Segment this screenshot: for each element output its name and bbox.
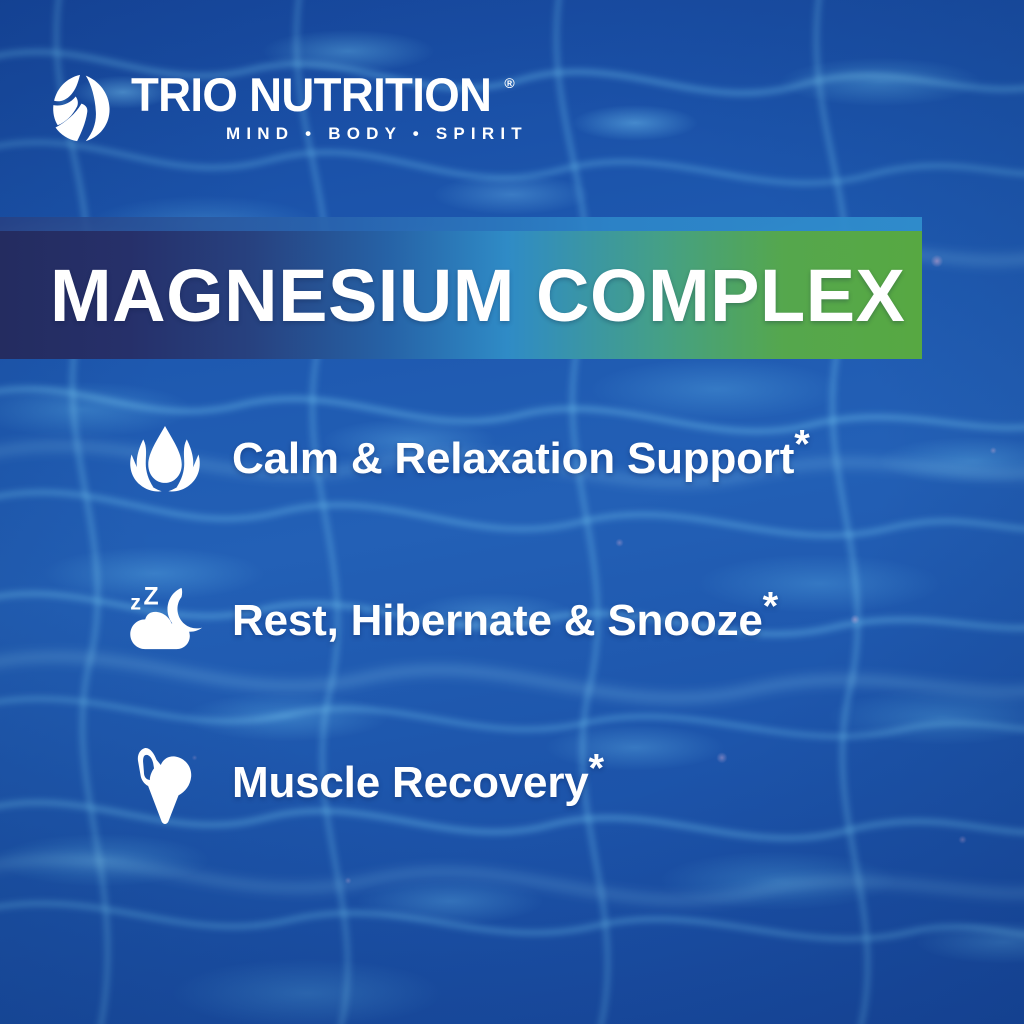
benefit-item: z Z Rest, Hibernate & Snooze*: [0, 580, 1024, 662]
benefit-item: Muscle Recovery*: [0, 742, 1024, 824]
banner-gradient-bar: MAGNESIUM COMPLEX: [0, 231, 922, 359]
benefit-label-text: Rest, Hibernate & Snooze: [232, 596, 763, 645]
lotus-flower-icon: [122, 420, 208, 498]
benefit-item: Calm & Relaxation Support*: [0, 418, 1024, 500]
brand-tagline: MIND • BODY • SPIRIT: [226, 124, 528, 144]
banner-top-strip: [0, 217, 922, 231]
moon-cloud-sleep-icon: z Z: [122, 582, 208, 660]
benefit-asterisk: *: [794, 422, 809, 466]
leaf-globe-logo-icon: [44, 72, 116, 144]
brand-logo: TRIO NUTRITION ® MIND • BODY • SPIRIT: [44, 72, 528, 144]
benefit-label: Calm & Relaxation Support*: [232, 434, 810, 484]
registered-trademark-icon: ®: [504, 76, 514, 90]
product-title-banner: MAGNESIUM COMPLEX: [0, 217, 922, 359]
benefit-label: Muscle Recovery*: [232, 758, 604, 808]
brand-name: TRIO NUTRITION: [131, 72, 491, 118]
flexed-bicep-icon: [122, 744, 208, 822]
benefit-label-text: Calm & Relaxation Support: [232, 434, 794, 483]
product-marketing-image: TRIO NUTRITION ® MIND • BODY • SPIRIT MA…: [0, 0, 1024, 1024]
benefit-asterisk: *: [763, 584, 778, 628]
brand-wordmark: TRIO NUTRITION ® MIND • BODY • SPIRIT: [131, 72, 528, 143]
product-title: MAGNESIUM COMPLEX: [50, 253, 905, 338]
benefit-label-text: Muscle Recovery: [232, 758, 589, 807]
svg-text:z: z: [130, 590, 141, 614]
benefit-asterisk: *: [589, 746, 604, 790]
benefits-list: Calm & Relaxation Support* z Z Rest, Hib…: [0, 418, 1024, 824]
benefit-label: Rest, Hibernate & Snooze*: [232, 596, 778, 646]
svg-text:Z: Z: [144, 583, 159, 610]
